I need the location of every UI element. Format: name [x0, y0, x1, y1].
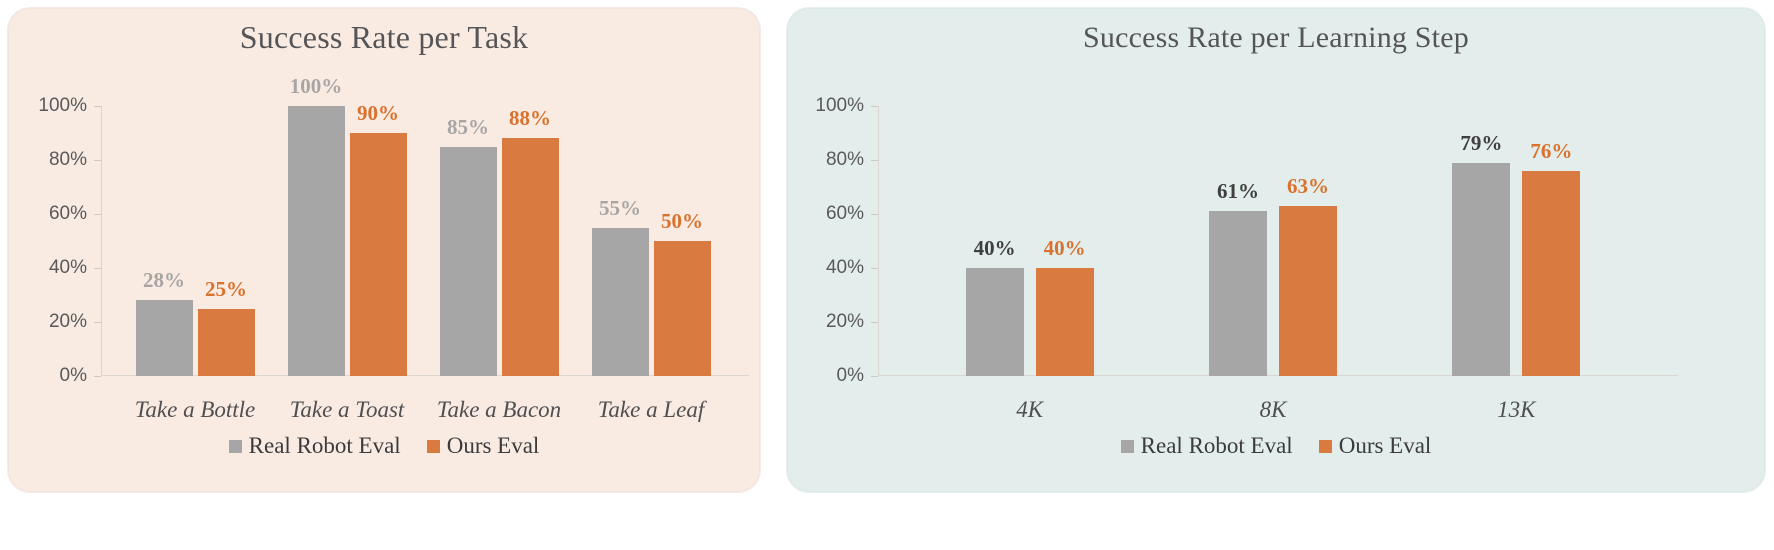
bar [1452, 163, 1510, 376]
legend-item[interactable]: Ours Eval [1319, 433, 1432, 459]
bar-value-label: 55% [599, 196, 641, 221]
legend-learning-step: Real Robot EvalOurs Eval [788, 433, 1764, 459]
y-axis-tick-label: 20% [49, 311, 87, 333]
y-tick-60 [94, 214, 101, 215]
bar-value-label: 76% [1530, 139, 1572, 164]
y-axis-tick-label: 100% [38, 95, 87, 117]
bar-value-label: 40% [1044, 236, 1086, 261]
y-tick-20 [871, 322, 878, 323]
y-axis-tick-label: 0% [60, 365, 87, 387]
legend-label: Real Robot Eval [1141, 433, 1293, 459]
chart-panel-success-rate-per-learning-step: Success Rate per Learning Step 0%20%40%6… [787, 8, 1765, 492]
y-tick-40 [94, 268, 101, 269]
bar [1209, 211, 1267, 376]
y-tick-80 [94, 160, 101, 161]
category-label: Take a Bottle [135, 397, 256, 423]
bar-value-label: 50% [661, 209, 703, 234]
y-axis-line-learning-step [878, 106, 879, 376]
legend-swatch-icon [1121, 440, 1134, 453]
chart-title-learning-step: Success Rate per Learning Step [788, 21, 1764, 55]
category-label: Take a Toast [290, 397, 405, 423]
bar-value-label: 88% [509, 106, 551, 131]
bar [1279, 206, 1337, 376]
legend-label: Ours Eval [1339, 433, 1432, 459]
legend-label: Ours Eval [447, 433, 540, 459]
legend-item[interactable]: Real Robot Eval [1121, 433, 1293, 459]
bar [136, 300, 193, 376]
bar [654, 241, 711, 376]
bar-value-label: 79% [1460, 131, 1502, 156]
category-label: Take a Bacon [437, 397, 561, 423]
y-tick-20 [94, 322, 101, 323]
category-label: Take a Leaf [598, 397, 705, 423]
y-axis-tick-label: 20% [826, 311, 864, 333]
bar [1036, 268, 1094, 376]
bar-value-label: 25% [205, 277, 247, 302]
bar [350, 133, 407, 376]
bar-value-label: 100% [290, 74, 343, 99]
category-label: 13K [1497, 397, 1535, 423]
y-axis-tick-label: 80% [826, 149, 864, 171]
category-label: 4K [1016, 397, 1043, 423]
legend-item[interactable]: Ours Eval [427, 433, 540, 459]
bar-value-label: 63% [1287, 174, 1329, 199]
plot-area-learning-step: 0%20%40%60%80%100% 40%40%61%63%79%76% [878, 106, 1678, 376]
y-axis-tick-label: 0% [837, 365, 864, 387]
legend-swatch-icon [1319, 440, 1332, 453]
y-tick-80 [871, 160, 878, 161]
plot-area-task: 0%20%40%60%80%100% 28%25%100%90%85%88%55… [101, 106, 749, 376]
bar [288, 106, 345, 376]
bar-value-label: 61% [1217, 179, 1259, 204]
bar [1522, 171, 1580, 376]
y-tick-0 [871, 376, 878, 377]
y-tick-100 [871, 106, 878, 107]
figure-canvas: Success Rate per Task 0%20%40%60%80%100%… [0, 0, 1774, 550]
bar [440, 147, 497, 377]
bar-value-label: 28% [143, 268, 185, 293]
bar [198, 309, 255, 377]
legend-item[interactable]: Real Robot Eval [229, 433, 401, 459]
chart-panel-success-rate-per-task: Success Rate per Task 0%20%40%60%80%100%… [8, 8, 760, 492]
legend-task: Real Robot EvalOurs Eval [9, 433, 759, 459]
chart-title-task: Success Rate per Task [9, 19, 759, 56]
bar [502, 138, 559, 376]
bar-value-label: 85% [447, 115, 489, 140]
y-axis-tick-label: 80% [49, 149, 87, 171]
y-axis-tick-label: 40% [826, 257, 864, 279]
legend-label: Real Robot Eval [249, 433, 401, 459]
category-label: 8K [1260, 397, 1287, 423]
y-tick-40 [871, 268, 878, 269]
bar-value-label: 90% [357, 101, 399, 126]
y-tick-100 [94, 106, 101, 107]
bar [966, 268, 1024, 376]
bar-value-label: 40% [974, 236, 1016, 261]
y-tick-0 [94, 376, 101, 377]
bar [592, 228, 649, 377]
legend-swatch-icon [229, 440, 242, 453]
y-axis-tick-label: 60% [826, 203, 864, 225]
y-axis-tick-label: 100% [815, 95, 864, 117]
legend-swatch-icon [427, 440, 440, 453]
y-axis-tick-label: 60% [49, 203, 87, 225]
y-axis-line-task [101, 106, 102, 376]
y-axis-tick-label: 40% [49, 257, 87, 279]
y-tick-60 [871, 214, 878, 215]
